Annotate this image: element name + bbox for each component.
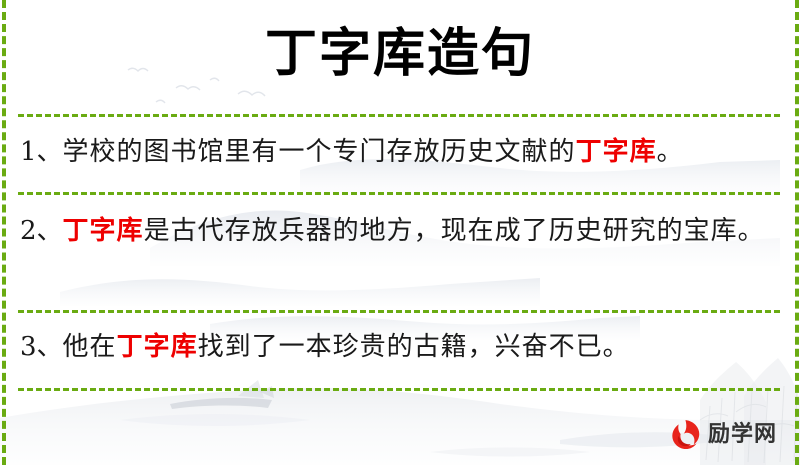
frame-border-right [795,0,799,465]
sentence-text-before: 他在 [63,332,117,362]
worksheet-page: 丁字库造句 1、学校的图书馆里有一个专门存放历史文献的丁字库。 2、丁字库是古代… [0,0,800,465]
sentence-index: 3、 [20,332,63,362]
sentence-index: 2、 [20,216,63,246]
page-title: 丁字库造句 [0,22,800,86]
frame-border-left [2,0,6,465]
divider-above-sentence-3 [18,310,780,313]
divider-above-sentence-2 [18,192,780,195]
sentence-index: 1、 [20,137,63,167]
flame-swirl-logo-icon [668,418,702,452]
sentence-text-after: 找到了一本珍贵的古籍，兴奋不已。 [198,332,630,362]
sentence-keyword: 丁字库 [117,332,198,362]
sentence-keyword: 丁字库 [63,216,144,246]
brand-logo[interactable]: 励学网 [668,418,777,452]
divider-above-sentence-1 [18,114,780,117]
sentence-item: 3、他在丁字库找到了一本珍贵的古籍，兴奋不已。 [20,328,770,366]
sentence-text-after: 是古代存放兵器的地方，现在成了历史研究的宝库。 [144,216,765,246]
sentence-item: 1、学校的图书馆里有一个专门存放历史文献的丁字库。 [20,133,770,171]
divider-below-sentence-3 [18,388,780,391]
sentence-text-before: 学校的图书馆里有一个专门存放历史文献的 [63,137,576,167]
brand-name: 励学网 [708,418,777,452]
sentence-text-after: 。 [657,137,684,167]
sentence-keyword: 丁字库 [576,137,657,167]
sentence-item: 2、丁字库是古代存放兵器的地方，现在成了历史研究的宝库。 [20,212,770,250]
